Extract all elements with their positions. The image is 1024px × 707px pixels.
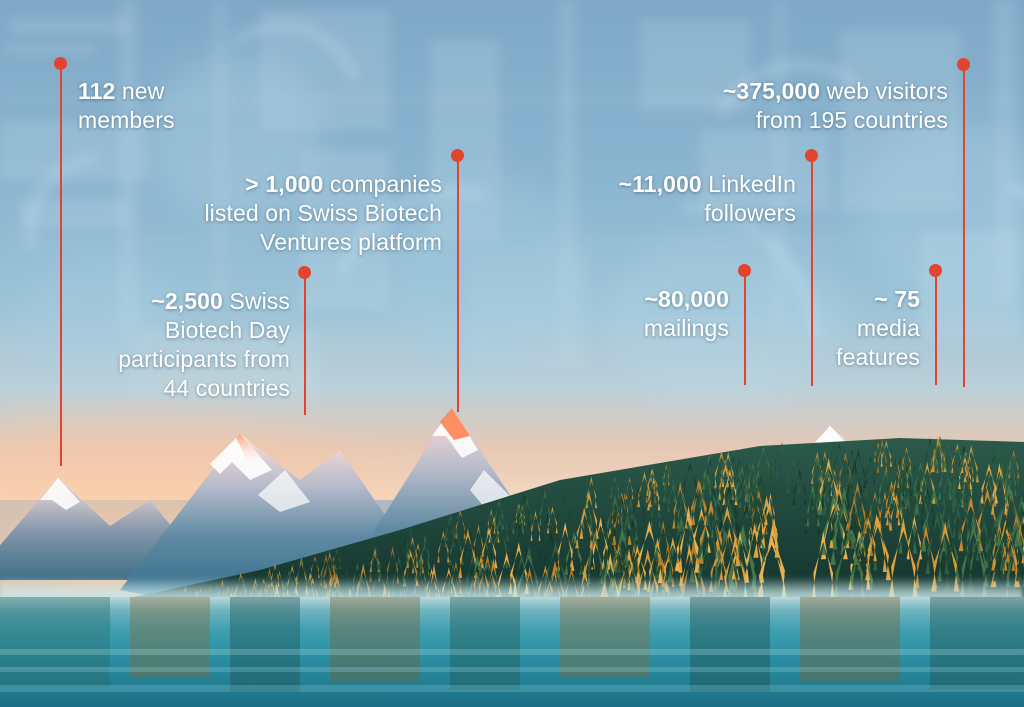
callout-text-new-members: 112 new members xyxy=(78,48,338,135)
callout-emphasis: > 1,000 xyxy=(245,171,323,197)
pin-dot xyxy=(298,266,311,279)
callout-text-mailings: ~80,000 mailings xyxy=(545,256,729,343)
pin-dot xyxy=(957,58,970,71)
infographic-canvas: 112 new members > 1,000 companies listed… xyxy=(0,0,1024,707)
callout-text-web-visitors: ~375,000 web visitors from 195 countries xyxy=(630,48,948,135)
callout-emphasis: ~375,000 xyxy=(723,78,820,104)
callout-emphasis: ~11,000 xyxy=(619,171,702,197)
callout-rest: companies listed on Swiss Biotech Ventur… xyxy=(204,171,442,255)
pin-dot xyxy=(54,57,67,70)
callout-text-swiss-biotech-day: ~2,500 Swiss Biotech Day participants fr… xyxy=(60,258,290,403)
pin-dot xyxy=(451,149,464,162)
pin-dot xyxy=(929,264,942,277)
callout-text-linkedin-followers: ~11,000 LinkedIn followers xyxy=(560,141,796,228)
callout-text-companies-listed: > 1,000 companies listed on Swiss Biotec… xyxy=(130,141,442,257)
pin-line xyxy=(304,275,306,415)
pin-dot xyxy=(805,149,818,162)
callout-emphasis: ~2,500 xyxy=(151,288,223,314)
callout-emphasis: 112 xyxy=(78,78,115,104)
callout-rest: LinkedIn followers xyxy=(702,171,796,226)
pin-line xyxy=(935,273,937,385)
lake-reflection xyxy=(0,597,1024,707)
callout-emphasis: ~ 75 xyxy=(874,286,920,312)
callout-rest: mailings xyxy=(644,315,729,341)
callout-text-media-features: ~ 75 media features xyxy=(790,256,920,372)
pin-line xyxy=(457,158,459,412)
pin-line xyxy=(963,67,965,387)
callout-rest: media features xyxy=(836,315,920,370)
pin-dot xyxy=(738,264,751,277)
pin-line xyxy=(744,273,746,385)
callout-emphasis: ~80,000 xyxy=(645,286,729,312)
